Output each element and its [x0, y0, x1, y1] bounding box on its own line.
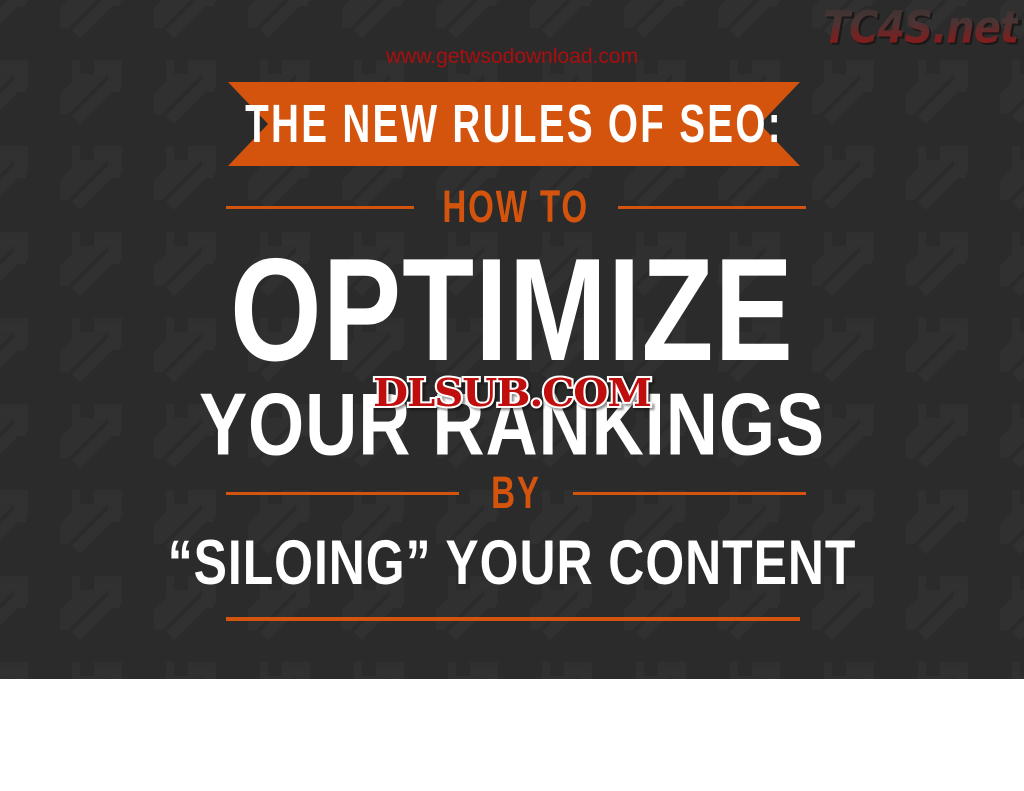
by-row: BY [226, 472, 806, 514]
ribbon-title: THE NEW RULES OF SEO: [251, 70, 777, 178]
hero-section: www.getwsodownload.com TC4S.net TC4S.net… [0, 0, 1024, 679]
tc4s-watermark: TC4S.net [823, 2, 1018, 54]
headline-siloing-your-content: “SILOING” YOUR CONTENT [20, 524, 1003, 602]
footer-section: INCREASE ENGAGEMENT Digital Marketer Inc… [0, 679, 1024, 791]
ribbon-banner: THE NEW RULES OF SEO: [228, 82, 800, 166]
divider-rule-bottom [226, 617, 800, 621]
infographic-poster: www.getwsodownload.com TC4S.net TC4S.net… [0, 0, 1024, 791]
divider-rule-by-left [226, 492, 459, 495]
divider-rule-right [618, 206, 806, 209]
dlsub-watermark: DLSUB.COM [0, 370, 1024, 415]
by-label: BY [464, 467, 569, 520]
divider-rule-by-right [573, 492, 806, 495]
divider-rule-left [226, 206, 414, 209]
